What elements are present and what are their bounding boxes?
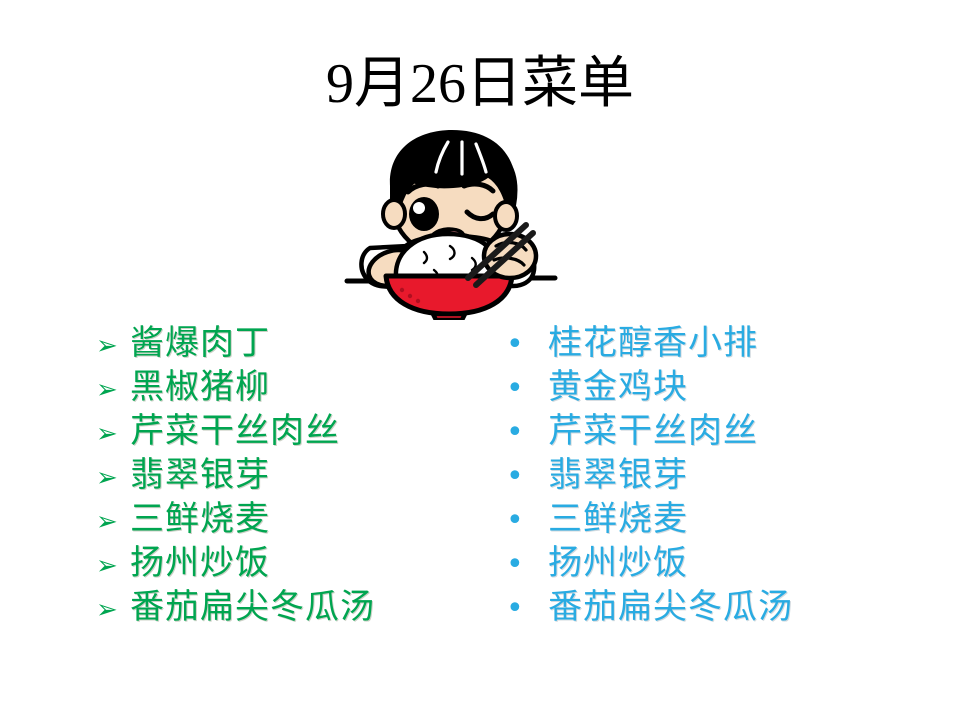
green-arrow-bullet-icon: ➢ bbox=[96, 588, 130, 632]
menu-item-label: 桂花醇香小排 bbox=[548, 322, 758, 366]
list-item: • 番茄扁尖冬瓜汤 bbox=[506, 586, 946, 630]
list-item: • 芹菜干丝肉丝 bbox=[506, 410, 946, 454]
green-arrow-bullet-icon: ➢ bbox=[96, 500, 130, 544]
list-item: • 翡翠银芽 bbox=[506, 454, 946, 498]
menu-item-label: 番茄扁尖冬瓜汤 bbox=[130, 586, 375, 630]
menu-list-right: • 桂花醇香小排 • 黄金鸡块 • 芹菜干丝肉丝 • 翡翠银芽 • 三鲜烧麦 •… bbox=[506, 322, 946, 630]
menu-item-label: 三鲜烧麦 bbox=[130, 498, 270, 542]
green-arrow-bullet-icon: ➢ bbox=[96, 324, 130, 368]
green-arrow-bullet-icon: ➢ bbox=[96, 412, 130, 456]
blue-dot-bullet-icon: • bbox=[506, 411, 548, 455]
list-item: ➢ 扬州炒饭 bbox=[96, 542, 496, 586]
list-item: ➢ 芹菜干丝肉丝 bbox=[96, 410, 496, 454]
menu-item-label: 扬州炒饭 bbox=[130, 542, 270, 586]
list-item: • 三鲜烧麦 bbox=[506, 498, 946, 542]
menu-columns: ➢ 酱爆肉丁 ➢ 黑椒猪柳 ➢ 芹菜干丝肉丝 ➢ 翡翠银芽 ➢ 三鲜烧麦 ➢ 扬… bbox=[0, 322, 960, 652]
green-arrow-bullet-icon: ➢ bbox=[96, 456, 130, 500]
list-item: ➢ 酱爆肉丁 bbox=[96, 322, 496, 366]
menu-item-label: 翡翠银芽 bbox=[548, 454, 688, 498]
list-item: ➢ 三鲜烧麦 bbox=[96, 498, 496, 542]
menu-item-label: 三鲜烧麦 bbox=[548, 498, 688, 542]
list-item: • 扬州炒饭 bbox=[506, 542, 946, 586]
menu-item-label: 扬州炒饭 bbox=[548, 542, 688, 586]
menu-item-label: 芹菜干丝肉丝 bbox=[130, 410, 340, 454]
list-item: • 黄金鸡块 bbox=[506, 366, 946, 410]
list-item: ➢ 翡翠银芽 bbox=[96, 454, 496, 498]
menu-item-label: 酱爆肉丁 bbox=[130, 322, 270, 366]
list-item: ➢ 番茄扁尖冬瓜汤 bbox=[96, 586, 496, 630]
green-arrow-bullet-icon: ➢ bbox=[96, 544, 130, 588]
menu-item-label: 黄金鸡块 bbox=[548, 366, 688, 410]
menu-item-label: 翡翠银芽 bbox=[130, 454, 270, 498]
blue-dot-bullet-icon: • bbox=[506, 587, 548, 631]
blue-dot-bullet-icon: • bbox=[506, 323, 548, 367]
menu-slide: 9月26日菜单 bbox=[0, 0, 960, 720]
list-item: • 桂花醇香小排 bbox=[506, 322, 946, 366]
blue-dot-bullet-icon: • bbox=[506, 543, 548, 587]
page-title: 9月26日菜单 bbox=[0, 52, 960, 116]
blue-dot-bullet-icon: • bbox=[506, 455, 548, 499]
boy-eating-rice-illustration bbox=[330, 128, 590, 320]
blue-dot-bullet-icon: • bbox=[506, 499, 548, 543]
green-arrow-bullet-icon: ➢ bbox=[96, 368, 130, 412]
menu-item-label: 芹菜干丝肉丝 bbox=[548, 410, 758, 454]
menu-item-label: 番茄扁尖冬瓜汤 bbox=[548, 586, 793, 630]
menu-item-label: 黑椒猪柳 bbox=[130, 366, 270, 410]
blue-dot-bullet-icon: • bbox=[506, 367, 548, 411]
menu-list-left: ➢ 酱爆肉丁 ➢ 黑椒猪柳 ➢ 芹菜干丝肉丝 ➢ 翡翠银芽 ➢ 三鲜烧麦 ➢ 扬… bbox=[96, 322, 496, 630]
list-item: ➢ 黑椒猪柳 bbox=[96, 366, 496, 410]
